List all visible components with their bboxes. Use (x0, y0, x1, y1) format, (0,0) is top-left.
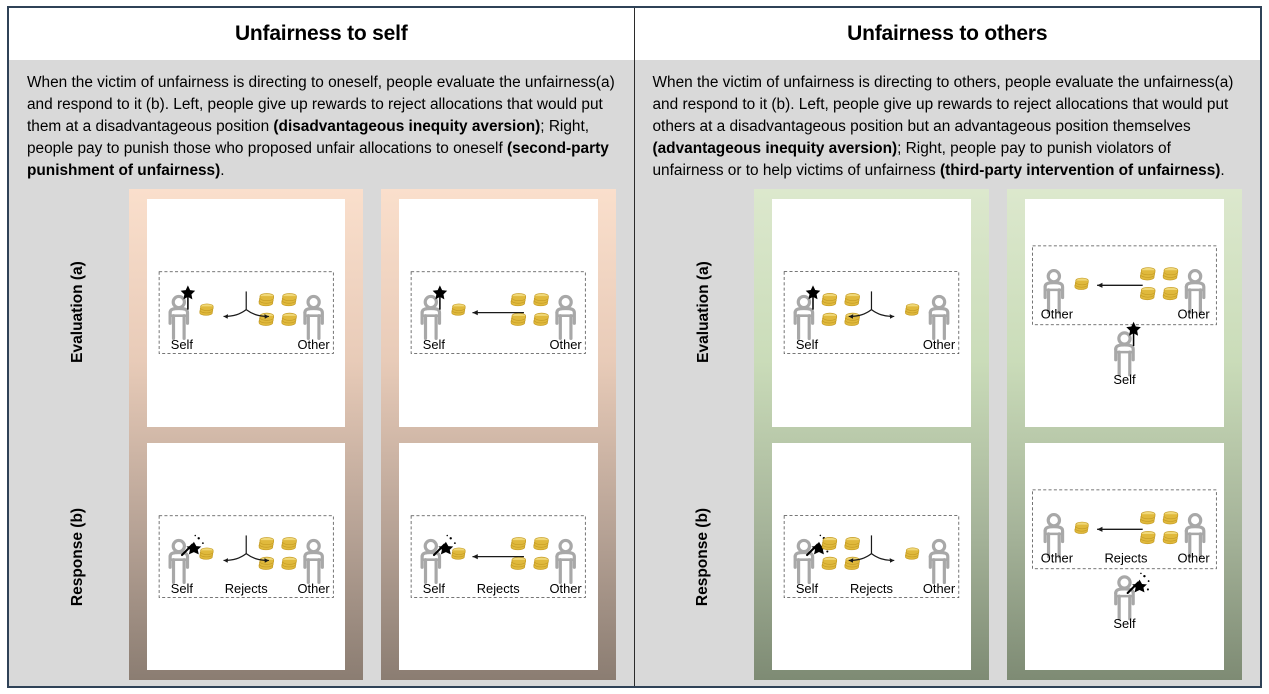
actor-label-left: Self (170, 337, 193, 352)
person-icon (930, 540, 947, 582)
person-icon (930, 297, 947, 339)
actor-label-left: Self (796, 581, 819, 596)
right-column-pair: SelfOther SelfOtherRejects (754, 189, 1242, 680)
coin-stack-icon (822, 294, 837, 306)
description-emphasis: (advantageous inequity aversion) (653, 140, 898, 157)
coin-stack-icon (1140, 268, 1155, 280)
action-label-middle: Rejects (850, 581, 893, 596)
coin-stack-icon (281, 557, 296, 569)
actor-label-right: Other (923, 337, 956, 352)
coin-stack-icon (281, 294, 296, 306)
actor-label-left: Self (170, 581, 193, 596)
row-label-response-left: Response (b) (27, 435, 129, 680)
coin-stack-icon (1163, 511, 1178, 523)
right-column-advantageous: SelfOther SelfOtherRejects (754, 189, 989, 680)
right-panel-header: Unfairness to others (635, 8, 1261, 60)
coin-stack-icon (1140, 531, 1155, 543)
panel-unfairness-to-others: Unfairness to others When the victim of … (635, 8, 1261, 686)
coin-stack-icon (452, 304, 465, 315)
coin-stack-icon (259, 537, 274, 549)
actor-label-left: Self (423, 581, 446, 596)
coin-stack-icon (1075, 522, 1088, 533)
coin-stack-icon (1163, 268, 1178, 280)
person-icon (1116, 333, 1133, 375)
observer-label: Self (1113, 616, 1136, 631)
person-icon (305, 297, 322, 339)
person-icon (557, 297, 574, 339)
coin-stack-icon (845, 294, 860, 306)
actor-label-right: Other (1178, 550, 1211, 565)
page-title-right: Unfairness to others (847, 22, 1047, 46)
person-icon (170, 297, 187, 339)
card-right-eval-left: SelfOther (772, 199, 971, 426)
row-label-response-right-text: Response (b) (694, 508, 712, 606)
panel-unfairness-to-self: Unfairness to self When the victim of un… (9, 8, 635, 686)
actor-label-left: Self (423, 337, 446, 352)
coin-stack-icon (534, 294, 549, 306)
coin-stack-icon (281, 313, 296, 325)
figure-root: Unfairness to self When the victim of un… (0, 0, 1269, 694)
left-panel-body: When the victim of unfairness is directi… (9, 60, 634, 686)
row-label-evaluation-right: Evaluation (a) (653, 189, 755, 434)
coin-stack-icon (511, 294, 526, 306)
coin-stack-icon (259, 557, 274, 569)
row-label-evaluation-left: Evaluation (a) (27, 189, 129, 434)
coin-stack-icon (259, 313, 274, 325)
coin-stack-icon (199, 304, 212, 315)
description-text: When the victim of unfairness is directi… (653, 74, 1234, 135)
actor-label-right: Other (923, 581, 956, 596)
left-column-disadvantageous: SelfOther SelfOtherRejects (129, 189, 363, 680)
coin-stack-icon (1140, 511, 1155, 523)
person-icon (422, 540, 439, 582)
description-text: . (220, 162, 224, 179)
left-arrow-connector-icon (1097, 283, 1143, 288)
coin-stack-icon (534, 557, 549, 569)
coin-stack-icon (199, 548, 212, 559)
description-emphasis: (third-party intervention of unfairness) (940, 162, 1220, 179)
left-column-pair: SelfOther SelfOtherRejects (129, 189, 616, 680)
figure-frame: Unfairness to self When the victim of un… (7, 6, 1262, 688)
observer-label: Self (1113, 372, 1136, 387)
coin-stack-icon (534, 537, 549, 549)
actor-label-right: Other (1178, 307, 1211, 322)
coin-stack-icon (906, 304, 919, 315)
actor-label-left: Other (1041, 307, 1074, 322)
card-right-eval-right: OtherOther Self (1025, 199, 1224, 426)
left-panel-header: Unfairness to self (9, 8, 634, 60)
coin-stack-icon (822, 313, 837, 325)
card-left-resp-right: SelfOtherRejects (399, 443, 597, 670)
coin-stack-icon (281, 537, 296, 549)
left-description: When the victim of unfairness is directi… (27, 72, 616, 181)
coin-stack-icon (259, 294, 274, 306)
description-emphasis: (disadvantageous inequity aversion) (273, 118, 540, 135)
action-label-middle: Rejects (477, 581, 520, 596)
coin-stack-icon (511, 537, 526, 549)
left-row-labels: Evaluation (a) Response (b) (27, 189, 129, 680)
person-icon (170, 540, 187, 582)
person-icon (422, 297, 439, 339)
card-right-resp-left: SelfOtherRejects (772, 443, 971, 670)
right-column-third-party: OtherOther Self OtherOtherRejects (1007, 189, 1242, 680)
card-left-resp-left: SelfOtherRejects (147, 443, 345, 670)
left-diagram-region: Evaluation (a) Response (b) (27, 189, 616, 686)
card-left-eval-right: SelfOther (399, 199, 597, 426)
person-icon (557, 540, 574, 582)
person-icon (305, 540, 322, 582)
row-label-evaluation-left-text: Evaluation (a) (69, 261, 87, 363)
action-label-middle: Rejects (1105, 550, 1148, 565)
row-label-response-left-text: Response (b) (69, 508, 87, 606)
description-text: . (1220, 162, 1224, 179)
coin-stack-icon (1140, 288, 1155, 300)
person-icon (1116, 577, 1133, 619)
coin-stack-icon (452, 548, 465, 559)
coin-stack-icon (511, 557, 526, 569)
coin-stack-icon (1163, 531, 1178, 543)
person-icon (795, 297, 812, 339)
page-title-left: Unfairness to self (235, 22, 408, 46)
actor-label-right: Other (550, 581, 583, 596)
right-diagram-region: Evaluation (a) Response (b) (653, 189, 1243, 686)
card-right-resp-right: OtherOtherRejects Self (1025, 443, 1224, 670)
coin-stack-icon (845, 537, 860, 549)
coin-stack-icon (822, 537, 837, 549)
row-label-evaluation-right-text: Evaluation (a) (694, 261, 712, 363)
actor-label-left: Self (796, 337, 819, 352)
actor-label-right: Other (297, 581, 330, 596)
left-arrow-connector-icon (1097, 526, 1143, 531)
row-label-response-right: Response (b) (653, 435, 755, 680)
coin-stack-icon (1163, 288, 1178, 300)
actor-label-right: Other (550, 337, 583, 352)
actor-label-left: Other (1041, 550, 1074, 565)
action-label-middle: Rejects (224, 581, 267, 596)
left-column-second-party-punishment: SelfOther SelfOtherRejects (381, 189, 615, 680)
right-row-labels: Evaluation (a) Response (b) (653, 189, 755, 680)
coin-stack-icon (511, 313, 526, 325)
coin-stack-icon (822, 557, 837, 569)
right-panel-body: When the victim of unfairness is directi… (635, 60, 1261, 686)
coin-stack-icon (906, 548, 919, 559)
right-description: When the victim of unfairness is directi… (653, 72, 1243, 181)
card-left-eval-left: SelfOther (147, 199, 345, 426)
coin-stack-icon (534, 313, 549, 325)
person-icon (795, 540, 812, 582)
coin-stack-icon (1075, 278, 1088, 289)
actor-label-right: Other (297, 337, 330, 352)
